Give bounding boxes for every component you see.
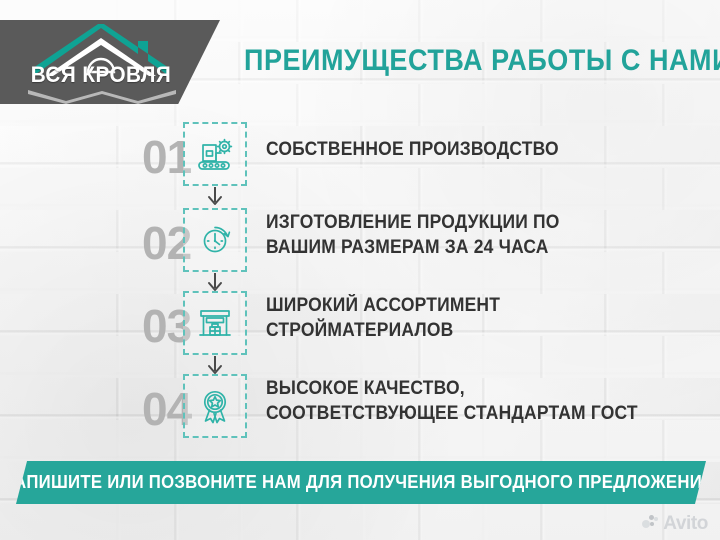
benefit-icon-frame	[183, 208, 247, 272]
benefit-label: ШИРОКИЙ АССОРТИМЕНТ СТРОЙМАТЕРИАЛОВ	[266, 293, 671, 343]
poster-canvas: ВСЯ КРОВЛЯ ПРЕИМУЩЕСТВА РАБОТЫ С НАМИ: 0…	[0, 0, 720, 540]
benefit-item-04: 04 ВЫСОКОЕ КАЧЕСТВО, СООТВЕТСТВУЮЩЕЕ СТА…	[0, 370, 720, 452]
benefit-icon-frame	[183, 122, 247, 186]
benefit-item-02: 02 ИЗГОТОВЛЕНИЕ ПРОДУКЦИИ ПО ВАШИМ РАЗМЕ…	[0, 204, 720, 286]
logo-wordmark: ВСЯ КРОВЛЯ	[12, 62, 191, 88]
page-title: ПРЕИМУЩЕСТВА РАБОТЫ С НАМИ:	[244, 44, 660, 78]
cta-banner[interactable]: НАПИШИТЕ ИЛИ ПОЗВОНИТЕ НАМ ДЛЯ ПОЛУЧЕНИЯ…	[16, 461, 706, 504]
benefit-item-03: 03 ШИРОКИЙ АССОРТИМЕНТ СТРОЙМАТЕРИАЛОВ	[0, 287, 720, 369]
benefit-label: ВЫСОКОЕ КАЧЕСТВО, СООТВЕТСТВУЮЩЕЕ СТАНДА…	[266, 376, 671, 426]
logo-inner: ВСЯ КРОВЛЯ	[6, 24, 196, 102]
benefit-label: СОБСТВЕННОЕ ПРОИЗВОДСТВО	[266, 137, 671, 162]
cta-text: НАПИШИТЕ ИЛИ ПОЗВОНИТЕ НАМ ДЛЯ ПОЛУЧЕНИЯ…	[40, 461, 682, 504]
benefit-icon-frame	[183, 291, 247, 355]
avito-wordmark: Avito	[663, 514, 708, 533]
benefit-icon-frame	[183, 374, 247, 438]
benefit-item-01: 01	[0, 118, 720, 200]
benefit-label: ИЗГОТОВЛЕНИЕ ПРОДУКЦИИ ПО ВАШИМ РАЗМЕРАМ…	[266, 210, 671, 260]
avito-watermark: Avito	[642, 514, 708, 533]
avito-dots-icon	[642, 515, 659, 532]
